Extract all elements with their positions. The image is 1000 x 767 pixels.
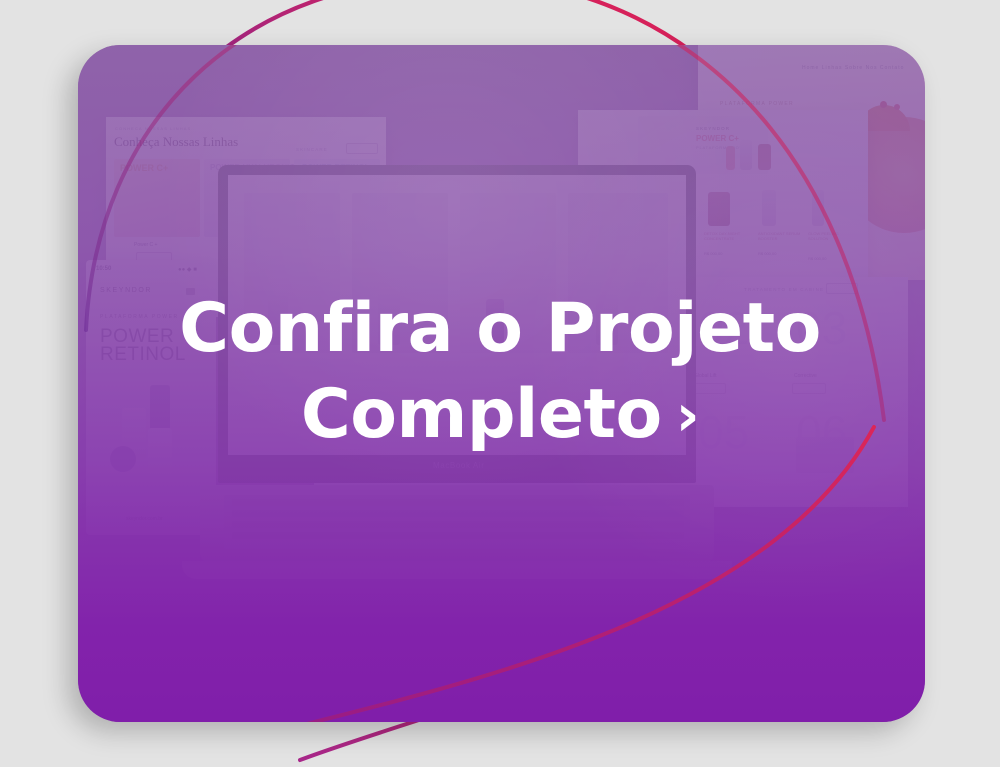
project-cta-link[interactable] (78, 45, 925, 722)
screenshot-stage: SKEYNDOR Home Linhas Sobre Nos Contato P… (0, 0, 1000, 767)
